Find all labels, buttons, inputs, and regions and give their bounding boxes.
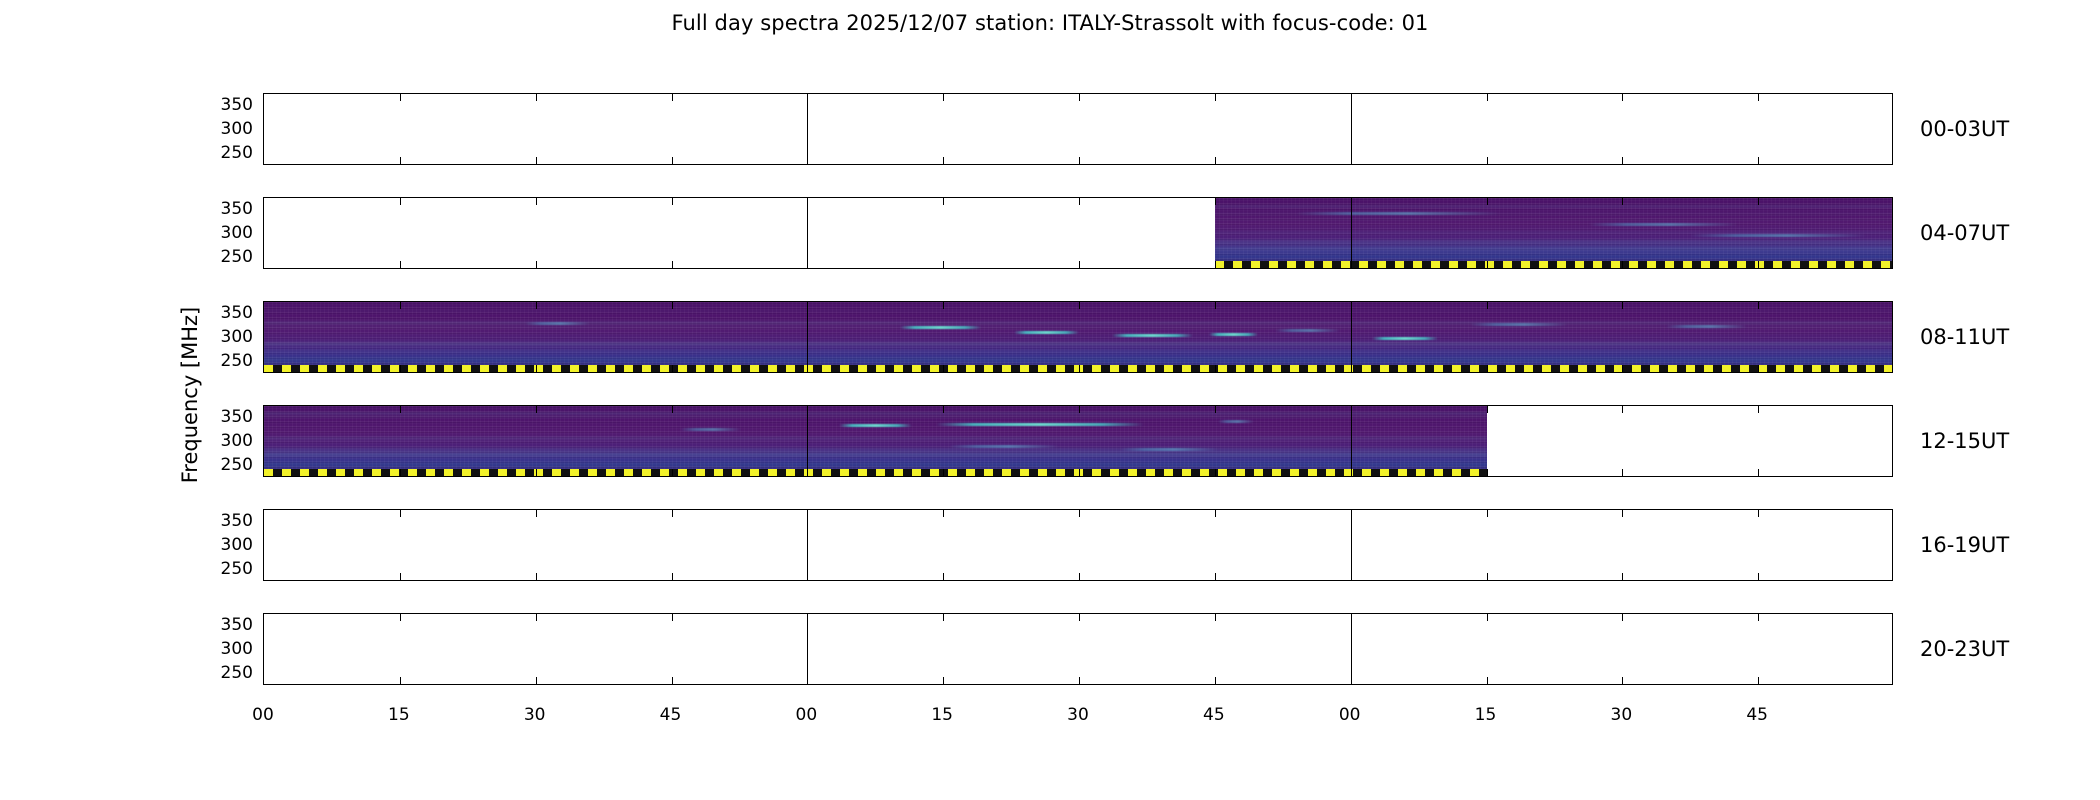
x-tick-mark <box>1079 261 1080 268</box>
x-tick-mark <box>400 510 401 517</box>
y-tick-label-group: 250300350 <box>195 301 253 373</box>
emission-streak <box>680 428 741 431</box>
x-tick-mark <box>536 614 537 621</box>
x-tick-label: 45 <box>660 705 682 725</box>
x-tick-mark <box>1351 677 1352 684</box>
x-tick-mark <box>400 406 401 413</box>
spectrogram-figure: Full day spectra 2025/12/07 station: ITA… <box>0 0 2100 800</box>
y-tick-label: 300 <box>195 327 253 347</box>
hour-separator <box>1351 94 1352 164</box>
x-tick-mark <box>1079 94 1080 101</box>
spectrogram-panel <box>263 301 1893 373</box>
y-tick-label: 250 <box>195 455 253 475</box>
y-tick-label: 300 <box>195 223 253 243</box>
x-tick-mark <box>1215 365 1216 372</box>
x-tick-mark <box>1079 406 1080 413</box>
x-tick-mark <box>1487 302 1488 309</box>
spectrogram-panel <box>263 509 1893 581</box>
x-tick-mark <box>672 302 673 309</box>
y-tick-mark <box>263 210 264 211</box>
x-tick-mark <box>1487 469 1488 476</box>
x-tick-mark <box>943 94 944 101</box>
x-tick-mark <box>1079 198 1080 205</box>
y-tick-mark <box>263 106 264 107</box>
x-tick-label: 15 <box>931 705 953 725</box>
y-tick-mark <box>1892 626 1893 627</box>
y-tick-label-group: 250300350 <box>195 197 253 269</box>
noise-band <box>264 448 1487 451</box>
x-tick-mark <box>1622 677 1623 684</box>
x-tick-label: 00 <box>1339 705 1361 725</box>
figure-title: Full day spectra 2025/12/07 station: ITA… <box>0 11 2100 35</box>
y-tick-mark <box>263 418 264 419</box>
x-tick-mark <box>1215 469 1216 476</box>
emission-streak <box>1690 234 1867 237</box>
x-tick-mark <box>1351 94 1352 101</box>
y-tick-mark <box>263 626 264 627</box>
noise-band <box>1215 250 1893 253</box>
y-tick-label: 250 <box>195 143 253 163</box>
event-marker-strip <box>264 469 1487 476</box>
y-tick-label: 250 <box>195 351 253 371</box>
hour-separator <box>1351 406 1352 476</box>
y-tick-mark <box>263 674 264 675</box>
spectrogram-image <box>264 302 1893 372</box>
x-tick-mark <box>400 157 401 164</box>
x-tick-label: 15 <box>388 705 410 725</box>
noise-band <box>264 350 1893 351</box>
x-tick-mark <box>943 573 944 580</box>
x-tick-mark <box>1487 261 1488 268</box>
y-tick-label: 350 <box>195 407 253 427</box>
y-tick-mark <box>1892 570 1893 571</box>
y-tick-mark <box>263 546 264 547</box>
x-tick-mark <box>1758 573 1759 580</box>
emission-streak <box>936 423 1144 426</box>
x-tick-mark <box>400 677 401 684</box>
x-tick-mark <box>943 365 944 372</box>
noise-band <box>264 416 1487 418</box>
x-tick-mark <box>1758 469 1759 476</box>
x-tick-mark <box>1622 302 1623 309</box>
noise-band <box>1215 219 1893 220</box>
x-tick-mark <box>1622 614 1623 621</box>
noise-band <box>1215 205 1893 208</box>
x-tick-mark <box>1622 198 1623 205</box>
x-tick-mark <box>943 469 944 476</box>
row-time-range-label: 08-11UT <box>1920 325 2009 349</box>
y-tick-label-group: 250300350 <box>195 93 253 165</box>
y-tick-label: 350 <box>195 303 253 323</box>
noise-band <box>264 342 1893 345</box>
y-tick-mark <box>263 522 264 523</box>
y-tick-mark <box>1892 466 1893 467</box>
y-tick-mark <box>1892 130 1893 131</box>
y-tick-mark <box>263 314 264 315</box>
x-tick-mark <box>943 261 944 268</box>
y-tick-mark <box>263 234 264 235</box>
hour-separator <box>1351 198 1352 268</box>
y-tick-mark <box>1892 314 1893 315</box>
x-tick-mark <box>536 406 537 413</box>
y-tick-mark <box>1892 546 1893 547</box>
x-tick-mark <box>1215 614 1216 621</box>
x-tick-mark <box>536 573 537 580</box>
emission-streak <box>839 424 912 427</box>
x-tick-mark <box>1215 406 1216 413</box>
y-tick-mark <box>1892 210 1893 211</box>
hour-separator <box>1351 614 1352 684</box>
y-tick-label: 350 <box>195 95 253 115</box>
x-tick-mark <box>672 510 673 517</box>
x-tick-mark <box>1351 198 1352 205</box>
spectrogram-image <box>1215 198 1893 268</box>
y-tick-label: 350 <box>195 615 253 635</box>
spectrogram-panel <box>263 93 1893 165</box>
x-tick-mark <box>1622 406 1623 413</box>
x-tick-label: 30 <box>524 705 546 725</box>
y-tick-mark <box>263 442 264 443</box>
y-tick-mark <box>263 258 264 259</box>
x-tick-mark <box>1487 406 1488 413</box>
x-tick-mark <box>807 573 808 580</box>
y-tick-label: 250 <box>195 559 253 579</box>
y-tick-label: 250 <box>195 247 253 267</box>
spectrogram-panel <box>263 197 1893 269</box>
y-tick-label: 300 <box>195 119 253 139</box>
x-tick-mark <box>943 614 944 621</box>
x-tick-mark <box>1622 573 1623 580</box>
x-tick-mark <box>400 469 401 476</box>
x-tick-mark <box>1079 302 1080 309</box>
x-tick-mark <box>1215 94 1216 101</box>
spectrogram-panel <box>263 613 1893 685</box>
x-tick-mark <box>807 677 808 684</box>
x-tick-label: 15 <box>1475 705 1497 725</box>
x-tick-mark <box>807 302 808 309</box>
y-tick-mark <box>263 154 264 155</box>
x-tick-mark <box>672 406 673 413</box>
x-tick-mark <box>672 614 673 621</box>
x-tick-mark <box>1758 302 1759 309</box>
x-tick-mark <box>1351 261 1352 268</box>
x-tick-mark <box>1758 261 1759 268</box>
emission-streak <box>949 445 1059 448</box>
x-tick-mark <box>1079 157 1080 164</box>
y-tick-mark <box>1892 234 1893 235</box>
noise-band <box>264 322 1893 325</box>
y-tick-label-group: 250300350 <box>195 613 253 685</box>
x-tick-mark <box>1351 302 1352 309</box>
y-tick-mark <box>1892 674 1893 675</box>
x-tick-mark <box>807 614 808 621</box>
emission-streak <box>1470 323 1568 326</box>
hour-separator <box>807 302 808 372</box>
y-tick-label-group: 250300350 <box>195 509 253 581</box>
x-tick-mark <box>536 510 537 517</box>
y-tick-label-group: 250300350 <box>195 405 253 477</box>
x-tick-mark <box>1758 614 1759 621</box>
event-marker-strip <box>1215 261 1893 268</box>
x-tick-mark <box>1758 510 1759 517</box>
emission-streak <box>1209 333 1258 336</box>
emission-streak <box>525 322 590 325</box>
y-tick-mark <box>1892 362 1893 363</box>
x-tick-mark <box>536 365 537 372</box>
x-tick-mark <box>400 573 401 580</box>
x-tick-label: 30 <box>1067 705 1089 725</box>
emission-streak <box>1296 212 1500 215</box>
emission-streak <box>1372 337 1437 340</box>
x-tick-mark <box>1215 261 1216 268</box>
y-tick-mark <box>263 130 264 131</box>
noise-band <box>264 453 1487 456</box>
x-tick-mark <box>1215 302 1216 309</box>
x-tick-mark <box>807 157 808 164</box>
y-tick-label: 250 <box>195 663 253 683</box>
x-tick-mark <box>1351 510 1352 517</box>
y-tick-mark <box>263 362 264 363</box>
x-tick-mark <box>1487 614 1488 621</box>
y-tick-mark <box>1892 442 1893 443</box>
hour-separator <box>807 510 808 580</box>
x-tick-mark <box>1487 157 1488 164</box>
y-tick-label: 350 <box>195 511 253 531</box>
y-tick-mark <box>1892 106 1893 107</box>
noise-band <box>264 437 1487 440</box>
x-tick-mark <box>400 365 401 372</box>
x-tick-mark <box>1351 614 1352 621</box>
x-tick-mark <box>1487 677 1488 684</box>
x-tick-mark <box>807 261 808 268</box>
x-tick-mark <box>1079 614 1080 621</box>
x-tick-label: 30 <box>1611 705 1633 725</box>
y-tick-mark <box>1892 650 1893 651</box>
x-tick-mark <box>1487 573 1488 580</box>
emission-streak <box>1014 331 1079 334</box>
x-tick-mark <box>672 261 673 268</box>
x-tick-mark <box>1351 573 1352 580</box>
x-tick-mark <box>400 261 401 268</box>
x-tick-mark <box>1215 573 1216 580</box>
x-tick-mark <box>1215 677 1216 684</box>
x-tick-mark <box>1079 573 1080 580</box>
x-tick-mark <box>672 365 673 372</box>
y-tick-mark <box>1892 338 1893 339</box>
x-tick-mark <box>807 365 808 372</box>
x-tick-mark <box>1079 469 1080 476</box>
x-tick-mark <box>807 198 808 205</box>
x-tick-mark <box>1758 677 1759 684</box>
x-tick-mark <box>1487 94 1488 101</box>
x-tick-mark <box>943 302 944 309</box>
x-tick-mark <box>1351 365 1352 372</box>
row-time-range-label: 20-23UT <box>1920 637 2009 661</box>
x-tick-mark <box>1758 365 1759 372</box>
y-tick-label: 300 <box>195 535 253 555</box>
x-tick-mark <box>943 198 944 205</box>
x-tick-mark <box>672 198 673 205</box>
x-tick-mark <box>672 573 673 580</box>
x-tick-mark <box>1622 365 1623 372</box>
x-tick-mark <box>943 157 944 164</box>
x-tick-mark <box>1487 365 1488 372</box>
emission-streak <box>1588 223 1737 226</box>
noise-band <box>264 459 1487 460</box>
x-tick-mark <box>672 157 673 164</box>
y-tick-mark <box>263 338 264 339</box>
x-tick-mark <box>536 469 537 476</box>
x-tick-label: 00 <box>796 705 818 725</box>
y-tick-mark <box>1892 522 1893 523</box>
x-tick-mark <box>807 510 808 517</box>
emission-streak <box>1666 325 1748 328</box>
x-tick-mark <box>536 157 537 164</box>
y-tick-label: 350 <box>195 199 253 219</box>
emission-streak <box>900 326 982 329</box>
x-tick-mark <box>1215 198 1216 205</box>
hour-separator <box>807 198 808 268</box>
x-tick-mark <box>1758 94 1759 101</box>
x-tick-label: 45 <box>1746 705 1768 725</box>
spectrogram-image <box>264 406 1487 476</box>
x-tick-mark <box>1351 469 1352 476</box>
emission-streak <box>1112 334 1194 337</box>
x-tick-mark <box>807 469 808 476</box>
y-tick-mark <box>1892 418 1893 419</box>
spectrogram-background <box>264 302 1893 372</box>
noise-band <box>1215 232 1893 234</box>
x-tick-mark <box>400 302 401 309</box>
x-tick-mark <box>536 302 537 309</box>
x-tick-mark <box>672 94 673 101</box>
row-time-range-label: 12-15UT <box>1920 429 2009 453</box>
x-tick-mark <box>1622 94 1623 101</box>
x-tick-mark <box>1351 406 1352 413</box>
noise-band <box>264 326 1893 329</box>
hour-separator <box>807 614 808 684</box>
x-tick-mark <box>1622 469 1623 476</box>
y-tick-mark <box>263 466 264 467</box>
x-tick-mark <box>1758 406 1759 413</box>
x-tick-label: 00 <box>252 705 274 725</box>
hour-separator <box>807 406 808 476</box>
x-tick-mark <box>1351 157 1352 164</box>
x-tick-mark <box>1487 198 1488 205</box>
x-tick-mark <box>400 614 401 621</box>
emission-streak <box>1120 448 1218 451</box>
y-tick-mark <box>263 570 264 571</box>
x-tick-mark <box>400 94 401 101</box>
x-tick-mark <box>1758 157 1759 164</box>
y-tick-mark <box>1892 154 1893 155</box>
row-time-range-label: 00-03UT <box>1920 117 2009 141</box>
row-time-range-label: 16-19UT <box>1920 533 2009 557</box>
x-tick-mark <box>1079 365 1080 372</box>
hour-separator <box>807 94 808 164</box>
noise-band <box>1215 246 1893 249</box>
y-tick-mark <box>263 650 264 651</box>
x-tick-mark <box>672 677 673 684</box>
x-tick-mark <box>1758 198 1759 205</box>
x-tick-mark <box>1487 510 1488 517</box>
x-tick-mark <box>1079 677 1080 684</box>
x-tick-mark <box>1622 510 1623 517</box>
x-tick-label: 45 <box>1203 705 1225 725</box>
noise-band <box>264 310 1893 312</box>
x-tick-mark <box>1622 261 1623 268</box>
emission-streak <box>1218 420 1255 423</box>
noise-band <box>264 359 1893 361</box>
noise-band <box>264 463 1487 465</box>
x-tick-mark <box>536 261 537 268</box>
x-tick-mark <box>943 677 944 684</box>
x-tick-mark <box>536 677 537 684</box>
x-tick-mark <box>1079 510 1080 517</box>
hour-separator <box>1351 302 1352 372</box>
x-tick-mark <box>536 198 537 205</box>
hour-separator <box>1351 510 1352 580</box>
x-tick-mark <box>672 469 673 476</box>
x-tick-mark <box>1215 157 1216 164</box>
x-tick-mark <box>807 94 808 101</box>
spectrogram-panel <box>263 405 1893 477</box>
x-tick-mark <box>943 510 944 517</box>
y-tick-label: 300 <box>195 639 253 659</box>
row-time-range-label: 04-07UT <box>1920 221 2009 245</box>
noise-band <box>1215 240 1893 243</box>
x-tick-mark <box>400 198 401 205</box>
emission-streak <box>1275 329 1340 332</box>
x-tick-mark <box>943 406 944 413</box>
x-tick-mark <box>1622 157 1623 164</box>
x-tick-mark <box>536 94 537 101</box>
y-tick-label: 300 <box>195 431 253 451</box>
y-tick-mark <box>1892 258 1893 259</box>
x-tick-mark <box>807 406 808 413</box>
noise-band <box>264 412 1487 414</box>
x-tick-mark <box>1215 510 1216 517</box>
